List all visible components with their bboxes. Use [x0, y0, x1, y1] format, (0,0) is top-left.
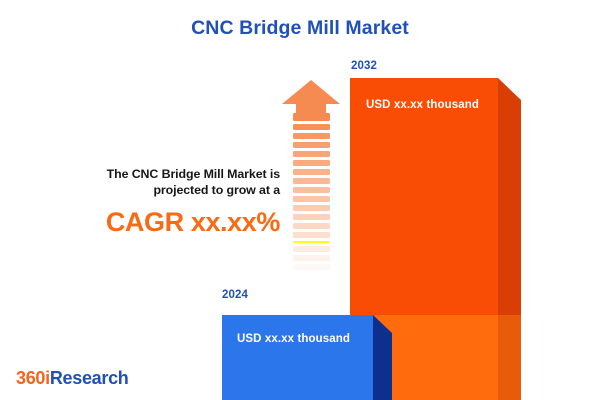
bar-label-2024: 2024	[222, 289, 248, 301]
bar-2024: USD xx.xx thousand	[222, 315, 373, 400]
upward-growth-arrow-icon	[282, 80, 340, 292]
arrow-stripe	[293, 273, 330, 279]
arrow-stripe	[293, 246, 330, 252]
bar-2032-side-lower	[498, 315, 521, 400]
arrow-stripe	[293, 133, 330, 139]
cagr-lead-text: The CNC Bridge Mill Market is projected …	[42, 166, 280, 198]
arrow-stripe	[293, 187, 330, 193]
bar-label-2032: 2032	[351, 60, 377, 72]
page-title: CNC Bridge Mill Market	[0, 17, 600, 40]
logo-prefix: 360i	[16, 368, 50, 388]
arrow-stripe	[293, 160, 330, 166]
arrow-head-icon	[282, 80, 340, 113]
bar-2032-side-upper	[498, 78, 521, 315]
arrow-stripe	[293, 223, 330, 229]
arrow-stripe	[293, 205, 330, 211]
bar-2032-front-upper	[350, 78, 498, 315]
arrow-stripe	[293, 124, 330, 130]
bar-value-2032: USD xx.xx thousand	[366, 99, 479, 111]
bar-2024-front	[222, 315, 373, 400]
cagr-statement: The CNC Bridge Mill Market is projected …	[42, 166, 280, 237]
arrow-stripe	[293, 113, 330, 121]
arrow-stripe	[293, 151, 330, 157]
logo-suffix: Research	[50, 368, 129, 388]
cagr-lead-line-2: projected to grow at a	[153, 183, 280, 197]
arrow-stripe	[293, 142, 330, 148]
arrow-stripe	[293, 178, 330, 184]
bar-value-2024: USD xx.xx thousand	[237, 333, 350, 345]
cagr-value: CAGR xx.xx%	[42, 207, 280, 237]
arrow-stripe	[293, 241, 330, 243]
arrow-stripe	[293, 214, 330, 220]
arrow-stripe	[293, 169, 330, 175]
brand-logo: 360iResearch	[16, 368, 129, 389]
infographic-canvas: CNC Bridge Mill Market The CNC Bridge Mi…	[0, 0, 600, 400]
cagr-lead-line-1: The CNC Bridge Mill Market is	[107, 167, 280, 181]
arrow-stripe	[293, 264, 330, 270]
arrow-stripe	[293, 232, 330, 238]
arrow-stripe	[293, 255, 330, 261]
arrow-stripe	[293, 196, 330, 202]
arrow-stripe-stack	[293, 113, 330, 292]
